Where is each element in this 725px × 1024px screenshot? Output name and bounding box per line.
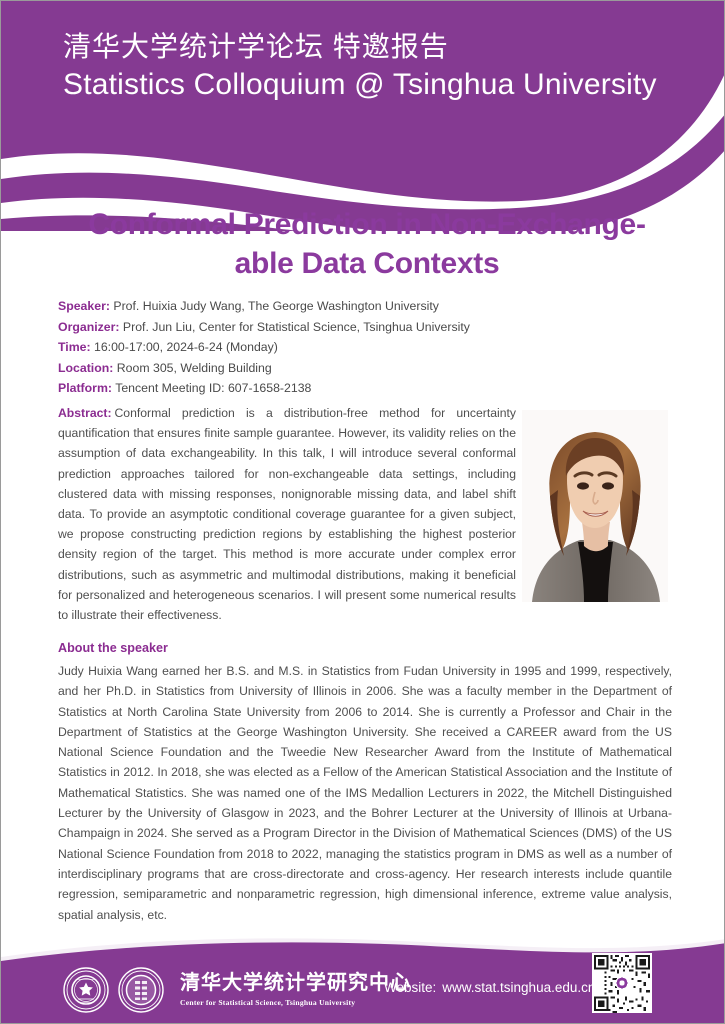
footer-org-name-en: Center for Statistical Science, Tsinghua… (180, 998, 355, 1007)
qr-code[interactable] (592, 953, 652, 1013)
page-title: Conformal Prediction in Non-Exchange- ab… (51, 205, 683, 283)
info-label-time: Time: (58, 340, 91, 354)
info-row-location: Location: Room 305, Welding Building (58, 358, 528, 379)
header-title-en: Statistics Colloquium @ Tsinghua Univers… (63, 67, 657, 104)
poster: 清华大学统计学论坛 特邀报告 Statistics Colloquium @ T… (0, 0, 725, 1024)
footer-org-name-cn: 清华大学统计学研究中心 (180, 970, 411, 994)
info-value-time: 16:00-17:00, 2024-6-24 (Monday) (94, 340, 278, 354)
info-row-time: Time: 16:00-17:00, 2024-6-24 (Monday) (58, 337, 528, 358)
info-value-speaker: Prof. Huixia Judy Wang, The George Washi… (113, 299, 439, 313)
info-value-organizer: Prof. Jun Liu, Center for Statistical Sc… (123, 320, 470, 334)
info-label-platform: Platform: (58, 381, 112, 395)
website-url[interactable]: www.stat.tsinghua.edu.cn (442, 980, 595, 995)
statistical-science-center-seal-icon (118, 967, 164, 1013)
abstract-block: Abstract:Conformal prediction is a distr… (58, 403, 516, 625)
info-label-location: Location: (58, 361, 113, 375)
footer-website[interactable]: Website:www.stat.tsinghua.edu.cn (384, 980, 595, 995)
abstract-text: Conformal prediction is a distribution-f… (58, 406, 516, 622)
bio-text: Judy Huixia Wang earned her B.S. and M.S… (58, 661, 672, 925)
footer-org-name: 清华大学统计学研究中心 Center for Statistical Scien… (180, 972, 411, 1009)
footer-branding: 清华大学统计学研究中心 Center for Statistical Scien… (63, 967, 411, 1013)
header-titles: 清华大学统计学论坛 特邀报告 Statistics Colloquium @ T… (63, 29, 657, 103)
bio-heading: About the speaker (58, 641, 168, 655)
page-title-line1: Conformal Prediction in Non-Exchange- (51, 205, 683, 244)
info-value-platform: Tencent Meeting ID: 607-1658-2138 (115, 381, 311, 395)
info-row-organizer: Organizer: Prof. Jun Liu, Center for Sta… (58, 317, 528, 338)
talk-info-list: Speaker: Prof. Huixia Judy Wang, The Geo… (58, 296, 528, 399)
abstract-label: Abstract: (58, 406, 112, 420)
info-row-platform: Platform: Tencent Meeting ID: 607-1658-2… (58, 378, 528, 399)
info-row-speaker: Speaker: Prof. Huixia Judy Wang, The Geo… (58, 296, 528, 317)
page-title-line2: able Data Contexts (51, 244, 683, 283)
tsinghua-university-seal-icon (63, 967, 109, 1013)
speaker-photo (522, 410, 668, 602)
website-label: Website: (384, 980, 436, 995)
header-title-cn: 清华大学统计学论坛 特邀报告 (63, 29, 657, 65)
info-value-location: Room 305, Welding Building (117, 361, 272, 375)
info-label-organizer: Organizer: (58, 320, 120, 334)
info-label-speaker: Speaker: (58, 299, 110, 313)
